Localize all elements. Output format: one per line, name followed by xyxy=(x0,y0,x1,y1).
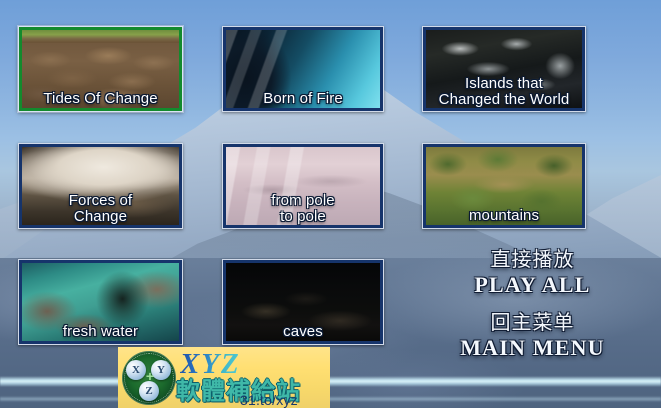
xyz-logo-icon: X Y Z + xyxy=(122,351,176,405)
chapter-label: Tides Of Change xyxy=(22,91,179,106)
chapter-tile-forces-of-change[interactable]: Forces of Change xyxy=(18,143,183,229)
play-all-label-cn: 直接播放 xyxy=(404,248,661,272)
chapter-tile-mountains[interactable]: mountains xyxy=(422,143,586,229)
chapter-thumbnail: Born of Fire xyxy=(226,30,380,108)
chapter-thumbnail: Forces of Change xyxy=(22,147,179,225)
main-menu-label-cn: 回主菜单 xyxy=(404,311,661,335)
chapter-label: mountains xyxy=(426,208,582,223)
background-light-streak-2 xyxy=(0,396,661,402)
watermark: X Y Z + XYZ 軟體補給站 31.to/xyz xyxy=(118,347,330,408)
menu-item-main-menu[interactable]: 回主菜单 MAIN MENU xyxy=(404,311,661,360)
menu-item-play-all[interactable]: 直接播放 PLAY ALL xyxy=(404,248,661,297)
watermark-url: 31.to/xyz xyxy=(240,392,298,408)
chapter-thumbnail: caves xyxy=(226,263,380,341)
main-menu-label-en: MAIN MENU xyxy=(404,335,661,361)
logo-plus-icon: + xyxy=(145,371,155,381)
chapter-tile-born-of-fire[interactable]: Born of Fire xyxy=(222,26,384,112)
chapter-thumbnail: fresh water xyxy=(22,263,179,341)
chapter-label: from pole to pole xyxy=(226,193,380,224)
logo-ball-x: X xyxy=(126,360,146,380)
chapter-tile-islands-that-changed-the-world[interactable]: Islands that Changed the World xyxy=(422,26,586,112)
dvd-menu-screen: Tides Of Change Born of Fire Islands tha… xyxy=(0,0,661,408)
chapter-thumbnail: Tides Of Change xyxy=(22,30,179,108)
chapter-tile-from-pole-to-pole[interactable]: from pole to pole xyxy=(222,143,384,229)
chapter-tile-caves[interactable]: caves xyxy=(222,259,384,345)
chapter-label: caves xyxy=(226,324,380,339)
play-all-label-en: PLAY ALL xyxy=(404,272,661,298)
chapter-label: Forces of Change xyxy=(22,193,179,224)
chapter-label: fresh water xyxy=(22,324,179,339)
chapter-label: Born of Fire xyxy=(226,91,380,106)
menu-panel: 直接播放 PLAY ALL 回主菜单 MAIN MENU xyxy=(404,248,661,374)
chapter-thumbnail: mountains xyxy=(426,147,582,225)
chapter-tile-tides-of-change[interactable]: Tides Of Change xyxy=(18,26,183,112)
chapter-thumbnail: from pole to pole xyxy=(226,147,380,225)
chapter-label: Islands that Changed the World xyxy=(426,76,582,107)
chapter-tile-fresh-water[interactable]: fresh water xyxy=(18,259,183,345)
chapter-thumbnail: Islands that Changed the World xyxy=(426,30,582,108)
background-light-streak xyxy=(0,376,661,387)
logo-ball-z: Z xyxy=(139,381,159,401)
